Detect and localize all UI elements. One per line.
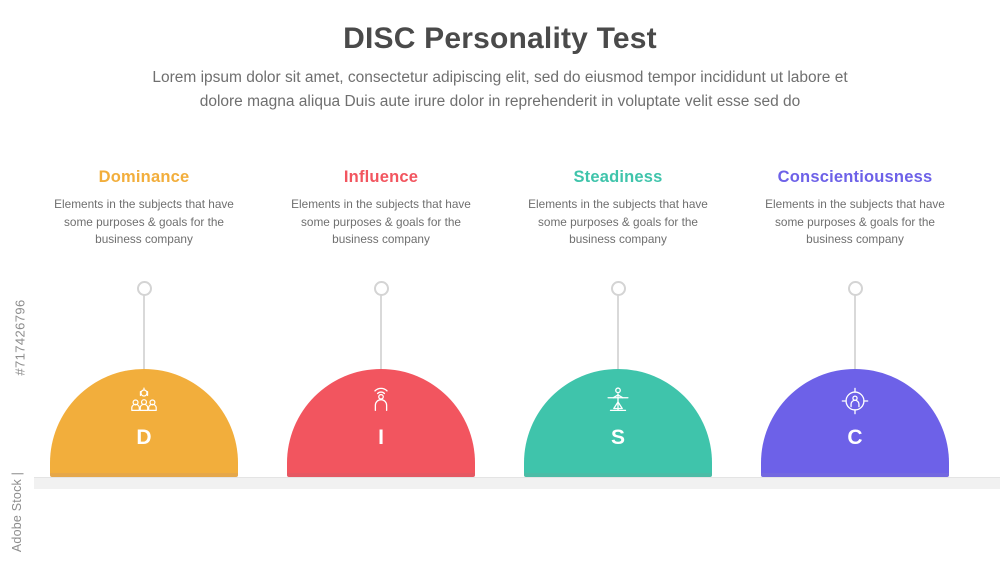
column-description: Elements in the subjects that have some … bbox=[737, 196, 973, 249]
target-person-icon bbox=[840, 386, 870, 421]
column-conscientiousness: Conscientiousness Elements in the subjec… bbox=[737, 168, 973, 249]
connector-knob bbox=[374, 281, 389, 296]
dome-letter: C bbox=[761, 426, 949, 450]
dome-shape bbox=[50, 369, 238, 473]
infographic-canvas: DISC Personality Test Lorem ipsum dolor … bbox=[0, 0, 1000, 563]
dome-conscientiousness[interactable]: C bbox=[761, 369, 949, 479]
dome-shape bbox=[761, 369, 949, 473]
dome-shape bbox=[524, 369, 712, 473]
page-subtitle: Lorem ipsum dolor sit amet, consectetur … bbox=[140, 66, 860, 114]
dome-steadiness[interactable]: S bbox=[524, 369, 712, 479]
dome-letter: D bbox=[50, 426, 238, 450]
column-dominance: Dominance Elements in the subjects that … bbox=[26, 168, 262, 249]
column-description: Elements in the subjects that have some … bbox=[263, 196, 499, 249]
watermark-brand: Adobe Stock | bbox=[10, 417, 24, 563]
dome-influence[interactable]: I bbox=[287, 369, 475, 479]
connector-knob bbox=[848, 281, 863, 296]
floor-line bbox=[0, 477, 1000, 478]
watermark-strip: #717426796 Adobe Stock | bbox=[0, 0, 34, 563]
column-title: Steadiness bbox=[500, 168, 736, 187]
column-description: Elements in the subjects that have some … bbox=[26, 196, 262, 249]
column-title: Conscientiousness bbox=[737, 168, 973, 187]
dome-letter: I bbox=[287, 426, 475, 450]
column-steadiness: Steadiness Elements in the subjects that… bbox=[500, 168, 736, 249]
column-description: Elements in the subjects that have some … bbox=[500, 196, 736, 249]
group-people-icon bbox=[129, 386, 159, 421]
column-title: Dominance bbox=[26, 168, 262, 187]
dome-dominance[interactable]: D bbox=[50, 369, 238, 479]
connector-knob bbox=[611, 281, 626, 296]
broadcast-person-icon bbox=[366, 386, 396, 421]
watermark-id: #717426796 bbox=[13, 248, 28, 428]
column-title: Influence bbox=[263, 168, 499, 187]
person-scale-icon bbox=[603, 386, 633, 421]
dome-shape bbox=[287, 369, 475, 473]
dome-letter: S bbox=[524, 426, 712, 450]
connector-knob bbox=[137, 281, 152, 296]
column-influence: Influence Elements in the subjects that … bbox=[263, 168, 499, 249]
page-title: DISC Personality Test bbox=[0, 22, 1000, 56]
floor-band bbox=[0, 477, 1000, 489]
